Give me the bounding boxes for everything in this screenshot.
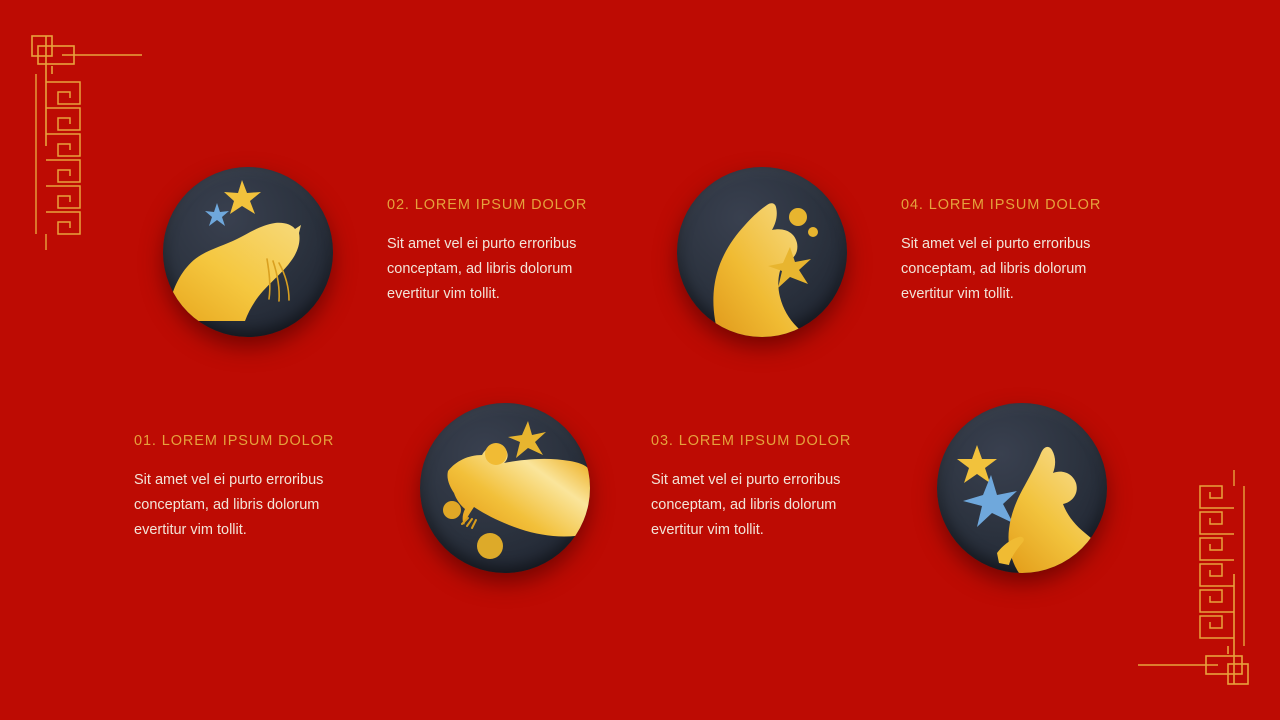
rat-head-profile-icon bbox=[172, 180, 301, 321]
feature-item-01: 01. LOREM IPSUM DOLOR Sit amet vel ei pu… bbox=[134, 403, 590, 573]
feature-title-01: 01. LOREM IPSUM DOLOR bbox=[134, 433, 366, 449]
slide-canvas: 02. LOREM IPSUM DOLOR Sit amet vel ei pu… bbox=[0, 0, 1280, 720]
feature-body-03: Sit amet vel ei purto erroribus concepta… bbox=[651, 468, 883, 542]
feature-title-02: 02. LOREM IPSUM DOLOR bbox=[387, 197, 619, 213]
feature-title-04: 04. LOREM IPSUM DOLOR bbox=[901, 197, 1133, 213]
bottom-right-greek-key-ornament bbox=[1128, 462, 1258, 692]
feature-body-01: Sit amet vel ei purto erroribus concepta… bbox=[134, 468, 366, 542]
feature-item-03: 03. LOREM IPSUM DOLOR Sit amet vel ei pu… bbox=[651, 403, 1107, 573]
rat-howling-icon bbox=[713, 203, 818, 337]
feature-title-03: 03. LOREM IPSUM DOLOR bbox=[651, 433, 883, 449]
feature-text-01: 01. LOREM IPSUM DOLOR Sit amet vel ei pu… bbox=[134, 433, 366, 542]
rat-sitting-upright-icon bbox=[957, 445, 1107, 573]
feature-item-02: 02. LOREM IPSUM DOLOR Sit amet vel ei pu… bbox=[163, 167, 619, 337]
rat-body-running-icon bbox=[443, 421, 590, 559]
feature-text-03: 03. LOREM IPSUM DOLOR Sit amet vel ei pu… bbox=[651, 433, 883, 542]
feature-body-02: Sit amet vel ei purto erroribus concepta… bbox=[387, 232, 619, 306]
feature-item-04: 04. LOREM IPSUM DOLOR Sit amet vel ei pu… bbox=[677, 167, 1133, 337]
feature-text-04: 04. LOREM IPSUM DOLOR Sit amet vel ei pu… bbox=[901, 197, 1133, 306]
medallion-04[interactable] bbox=[677, 167, 847, 337]
medallion-02[interactable] bbox=[163, 167, 333, 337]
top-left-greek-key-ornament bbox=[22, 28, 152, 258]
feature-text-02: 02. LOREM IPSUM DOLOR Sit amet vel ei pu… bbox=[387, 197, 619, 306]
feature-body-04: Sit amet vel ei purto erroribus concepta… bbox=[901, 232, 1133, 306]
medallion-03[interactable] bbox=[937, 403, 1107, 573]
medallion-01[interactable] bbox=[420, 403, 590, 573]
